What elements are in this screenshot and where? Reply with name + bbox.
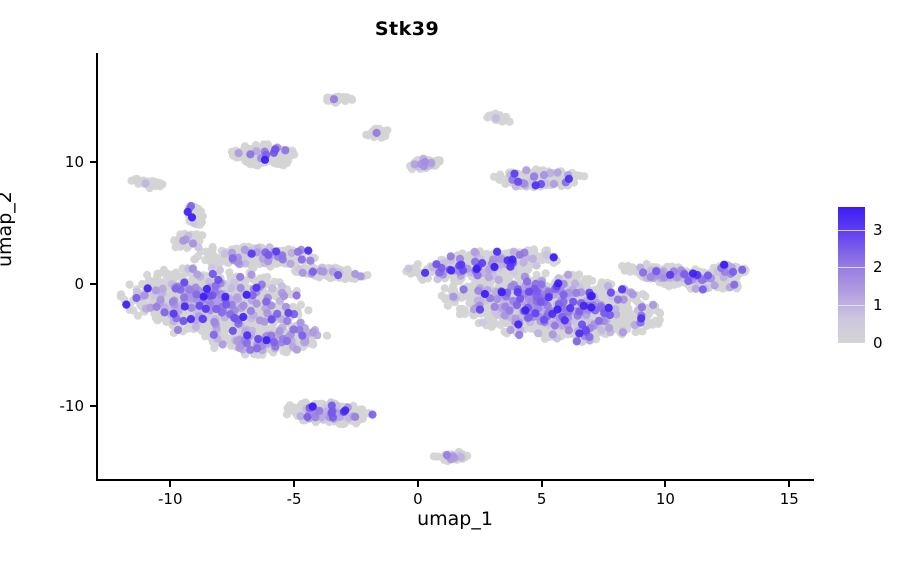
x-tick-label: 0	[413, 490, 423, 508]
umap-feature-plot-figure: Stk39 -10-5051015-10010 umap_1 umap_2 01…	[0, 0, 911, 562]
x-tick-mark	[169, 481, 171, 487]
expressed-points	[122, 95, 746, 463]
colorbar-tick-label: 2	[873, 258, 883, 276]
y-axis-label: umap_2	[0, 191, 16, 267]
x-tick-label: 5	[537, 490, 547, 508]
x-tick-label: 10	[656, 490, 675, 508]
plot-axes: -10-5051015-10010	[96, 53, 814, 481]
y-tick-mark	[90, 161, 96, 163]
y-tick-mark	[90, 283, 96, 285]
colorbar-tick-mark	[838, 267, 865, 268]
scatter-canvas	[96, 53, 814, 481]
page-title: Stk39	[0, 18, 814, 40]
y-tick-label: -10	[60, 397, 85, 415]
x-tick-label: 15	[780, 490, 799, 508]
colorbar-tick-label: 0	[873, 334, 883, 352]
colorbar-tick-label: 3	[873, 221, 883, 239]
x-tick-mark	[293, 481, 295, 487]
x-axis-label: umap_1	[96, 508, 814, 530]
colorbar-tick-mark	[838, 305, 865, 306]
y-tick-mark	[90, 405, 96, 407]
x-tick-label: -5	[287, 490, 302, 508]
colorbar-gradient	[838, 207, 865, 343]
y-tick-label: 10	[65, 153, 84, 171]
x-tick-mark	[541, 481, 543, 487]
colorbar-tick-mark	[838, 230, 865, 231]
scatter-points-layer	[96, 53, 814, 481]
x-tick-label: -10	[158, 490, 183, 508]
x-tick-mark	[788, 481, 790, 487]
y-tick-label: 0	[74, 275, 84, 293]
expression-colorbar: 0123	[838, 207, 865, 343]
x-tick-mark	[664, 481, 666, 487]
x-tick-mark	[417, 481, 419, 487]
colorbar-tick-label: 1	[873, 296, 883, 314]
